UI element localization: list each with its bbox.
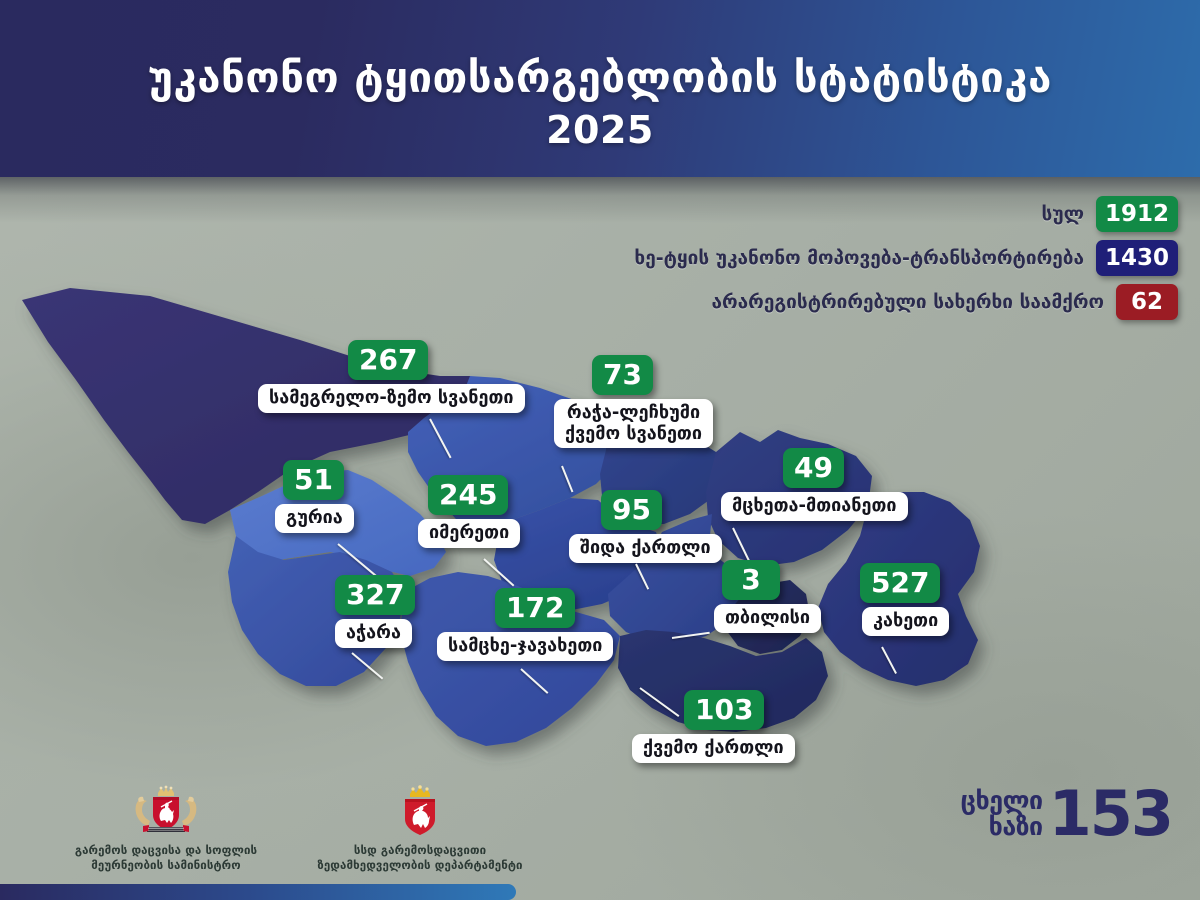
callout-value: 73 — [592, 355, 653, 395]
callout-value: 267 — [348, 340, 428, 380]
hotline-block: ცხელიხაზი 153 — [961, 786, 1173, 842]
bottom-accent-bar — [0, 884, 516, 900]
callout-samegrelo-zemo-svaneti: 267 სამეგრელო-ზემო სვანეთი — [348, 340, 525, 413]
footer-logo-ministry-caption: გარემოს დაცვისა და სოფლისმეურნეობის სამი… — [46, 843, 286, 873]
status-badge-sawmill: 62 — [1116, 284, 1178, 320]
callout-label: შიდა ქართლი — [569, 534, 722, 563]
footer-logo-supervision-department: სსდ გარემოსდაცვითიზედამხედველობის დეპარტ… — [290, 785, 550, 873]
callout-guria: 51 გურია — [283, 460, 354, 533]
callout-value: 95 — [601, 490, 662, 530]
callout-label: თბილისი — [714, 604, 821, 633]
callout-label: კახეთი — [862, 607, 949, 636]
page-title-year: 2025 — [0, 106, 1200, 154]
callout-label: აჭარა — [335, 619, 412, 648]
callout-value: 103 — [684, 690, 764, 730]
hotline-words: ცხელიხაზი — [961, 788, 1043, 840]
callout-value: 245 — [428, 475, 508, 515]
footer-logo-ministry: გარემოს დაცვისა და სოფლისმეურნეობის სამი… — [46, 785, 286, 873]
callout-value: 49 — [783, 448, 844, 488]
footer-logo-supervision-caption: სსდ გარემოსდაცვითიზედამხედველობის დეპარტ… — [290, 843, 550, 873]
callout-value: 51 — [283, 460, 344, 500]
callout-imereti: 245 იმერეთი — [428, 475, 520, 548]
callout-label: სამეგრელო-ზემო სვანეთი — [258, 384, 525, 413]
infographic-root: უკანონო ტყითსარგებლობის სტატისტიკა 2025 … — [0, 0, 1200, 900]
callout-value: 527 — [860, 563, 940, 603]
callout-label: გურია — [275, 504, 354, 533]
callout-label: იმერეთი — [418, 519, 520, 548]
callout-value: 172 — [495, 588, 575, 628]
callout-kvemo-kartli: 103 ქვემო ქართლი — [684, 690, 795, 763]
status-badge-total: 1912 — [1096, 196, 1178, 232]
environmental-supervision-emblem-icon — [397, 785, 443, 837]
callout-samtskhe-javakheti: 172 სამცხე-ჯავახეთი — [495, 588, 613, 661]
status-badge-transport: 1430 — [1096, 240, 1178, 276]
georgia-coat-of-arms-icon — [131, 785, 201, 837]
callout-adjara: 327 აჭარა — [335, 575, 415, 648]
callout-label: ქვემო ქართლი — [632, 734, 795, 763]
callout-mtskheta-mtianeti: 49 მცხეთა-მთიანეთი — [783, 448, 908, 521]
callout-value: 327 — [335, 575, 415, 615]
callout-tbilisi: 3 თბილისი — [722, 560, 821, 633]
callout-shida-kartli: 95 შიდა ქართლი — [601, 490, 722, 563]
callout-racha-lechkhumi-kvemo-svaneti: 73 რაჭა-ლეჩხუმიქვემო სვანეთი — [592, 355, 713, 448]
page-title-text: უკანონო ტყითსარგებლობის სტატისტიკა — [148, 53, 1052, 102]
callout-label: რაჭა-ლეჩხუმიქვემო სვანეთი — [554, 399, 713, 448]
page-title: უკანონო ტყითსარგებლობის სტატისტიკა 2025 — [0, 50, 1200, 154]
callout-label: მცხეთა-მთიანეთი — [721, 492, 908, 521]
callout-kakheti: 527 კახეთი — [860, 563, 949, 636]
callout-value: 3 — [722, 560, 780, 600]
hotline-number: 153 — [1049, 786, 1172, 842]
callout-label: სამცხე-ჯავახეთი — [437, 632, 613, 661]
